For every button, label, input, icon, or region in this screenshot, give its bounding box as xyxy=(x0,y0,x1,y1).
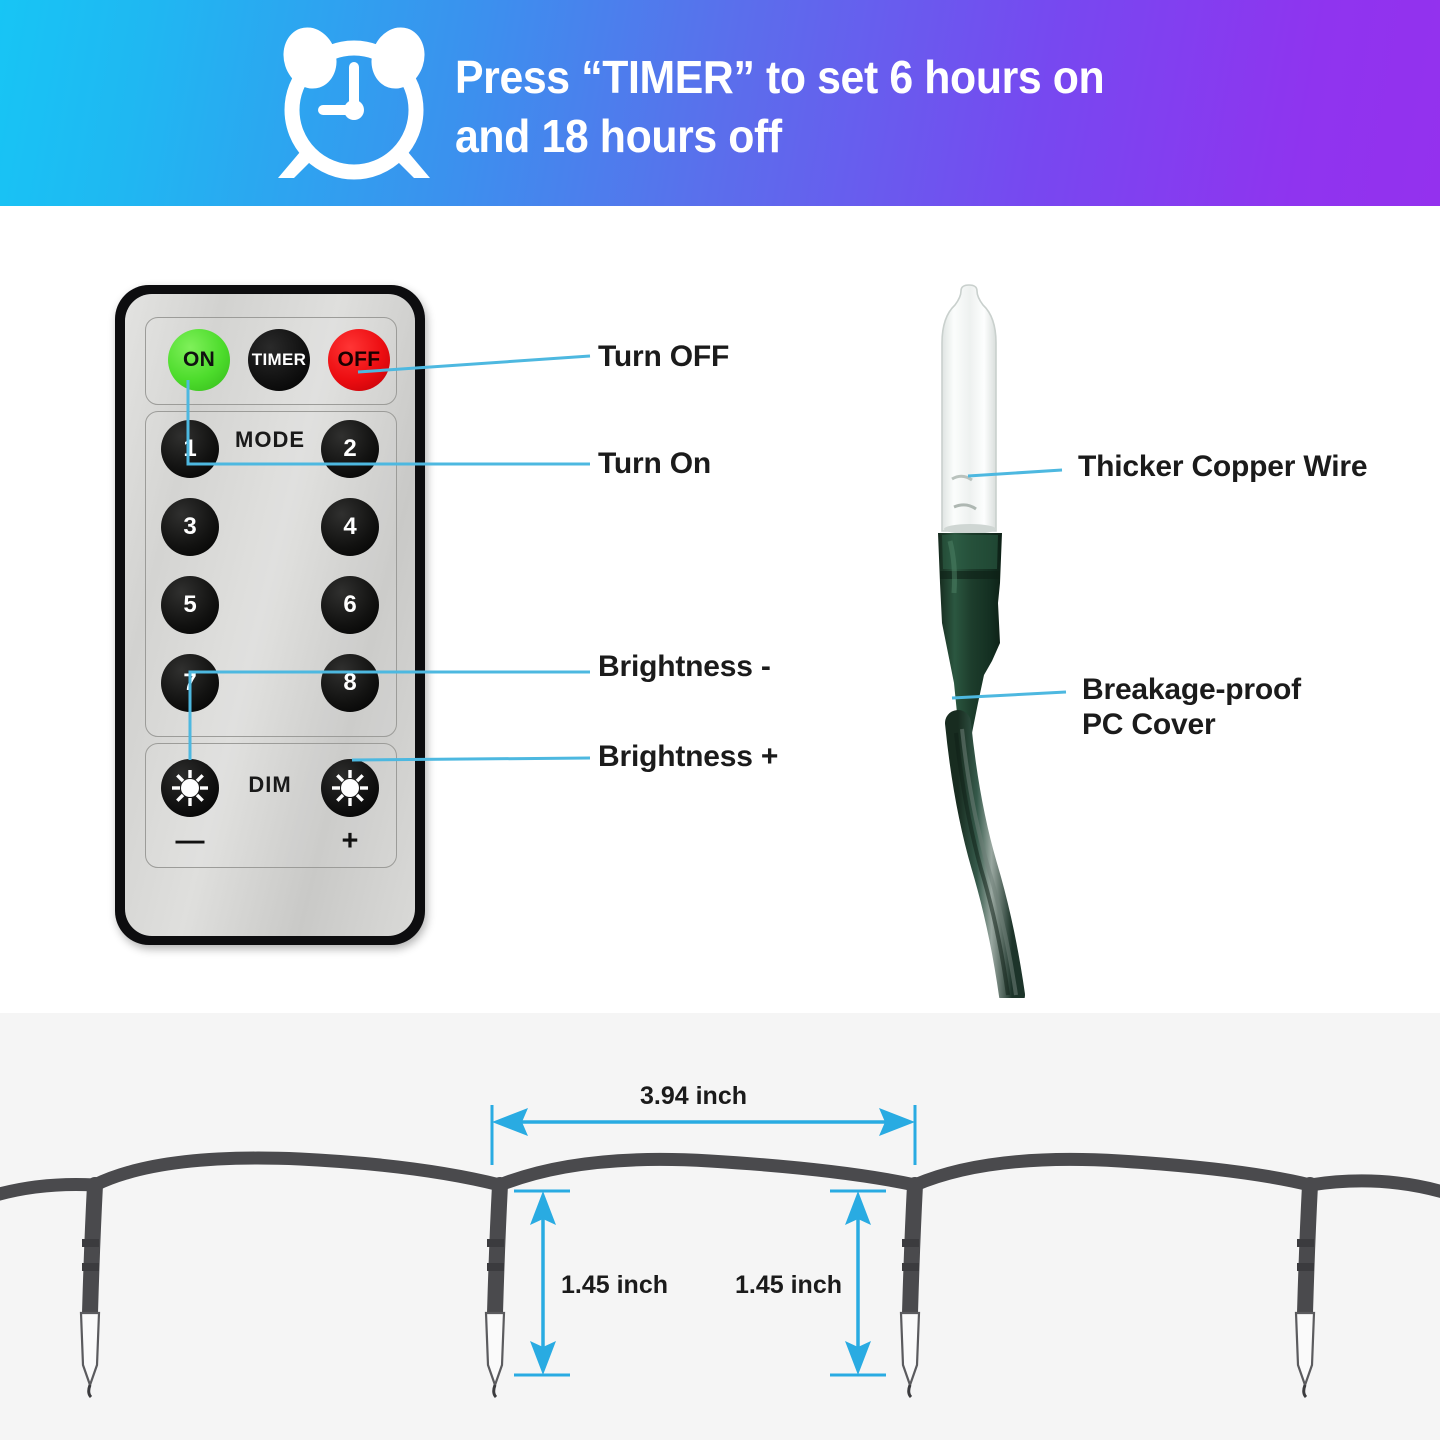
dimension-panel: 3.94 inch 1.45 inch 1.45 inch xyxy=(0,1013,1440,1440)
bulb-drop-group xyxy=(81,1185,1314,1397)
mode-button-1[interactable]: 1 xyxy=(161,420,219,478)
dim-label: DIM xyxy=(125,772,415,798)
mode-button-5[interactable]: 5 xyxy=(161,576,219,634)
remote-control: ON TIMER OFF MODE 1 2 3 4 5 6 7 8 xyxy=(115,285,425,945)
off-button[interactable]: OFF xyxy=(328,329,390,391)
light-string-wire xyxy=(0,1158,1440,1208)
mode-button-2[interactable]: 2 xyxy=(321,420,379,478)
bulb-drop xyxy=(1296,1185,1314,1397)
dimension-label-vertical-right: 1.45 inch xyxy=(735,1271,842,1300)
dim-plus-sign: + xyxy=(321,825,379,858)
callout-brightness-minus: Brightness - xyxy=(598,650,771,684)
glass-bulb xyxy=(942,285,996,531)
string-lights-diagram xyxy=(0,1013,1440,1440)
callout-thicker-copper-wire: Thicker Copper Wire xyxy=(1078,450,1367,484)
banner-line-1: Press “TIMER” to set 6 hours on xyxy=(455,48,1292,107)
dim-minus-sign: — xyxy=(161,825,219,858)
dimension-label-horizontal: 3.94 inch xyxy=(640,1082,747,1111)
bulb-drop xyxy=(81,1185,99,1397)
mode-button-8[interactable]: 8 xyxy=(321,654,379,712)
mode-button-7[interactable]: 7 xyxy=(161,654,219,712)
callout-turn-off: Turn OFF xyxy=(598,340,729,374)
callout-pc-line-2: PC Cover xyxy=(1082,707,1301,742)
callout-breakage-proof-pc-cover: Breakage-proof PC Cover xyxy=(1082,672,1301,742)
on-button[interactable]: ON xyxy=(168,329,230,391)
callout-brightness-plus: Brightness + xyxy=(598,740,778,774)
mode-button-4[interactable]: 4 xyxy=(321,498,379,556)
bulb-drop xyxy=(486,1185,504,1397)
mode-button-6[interactable]: 6 xyxy=(321,576,379,634)
bulb-illustration xyxy=(880,283,1080,998)
banner-text: Press “TIMER” to set 6 hours on and 18 h… xyxy=(455,48,1292,166)
alarm-clock-icon xyxy=(270,26,438,186)
remote-faceplate: ON TIMER OFF MODE 1 2 3 4 5 6 7 8 xyxy=(125,294,415,936)
bulb-photo xyxy=(880,283,1080,998)
timer-banner: Press “TIMER” to set 6 hours on and 18 h… xyxy=(0,0,1440,206)
callout-turn-on: Turn On xyxy=(598,447,711,481)
dimension-label-vertical-left: 1.45 inch xyxy=(561,1271,668,1300)
banner-line-2: and 18 hours off xyxy=(455,107,1292,166)
mode-button-3[interactable]: 3 xyxy=(161,498,219,556)
callout-pc-line-1: Breakage-proof xyxy=(1082,672,1301,707)
bulb-drop xyxy=(901,1185,919,1397)
timer-button[interactable]: TIMER xyxy=(248,329,310,391)
